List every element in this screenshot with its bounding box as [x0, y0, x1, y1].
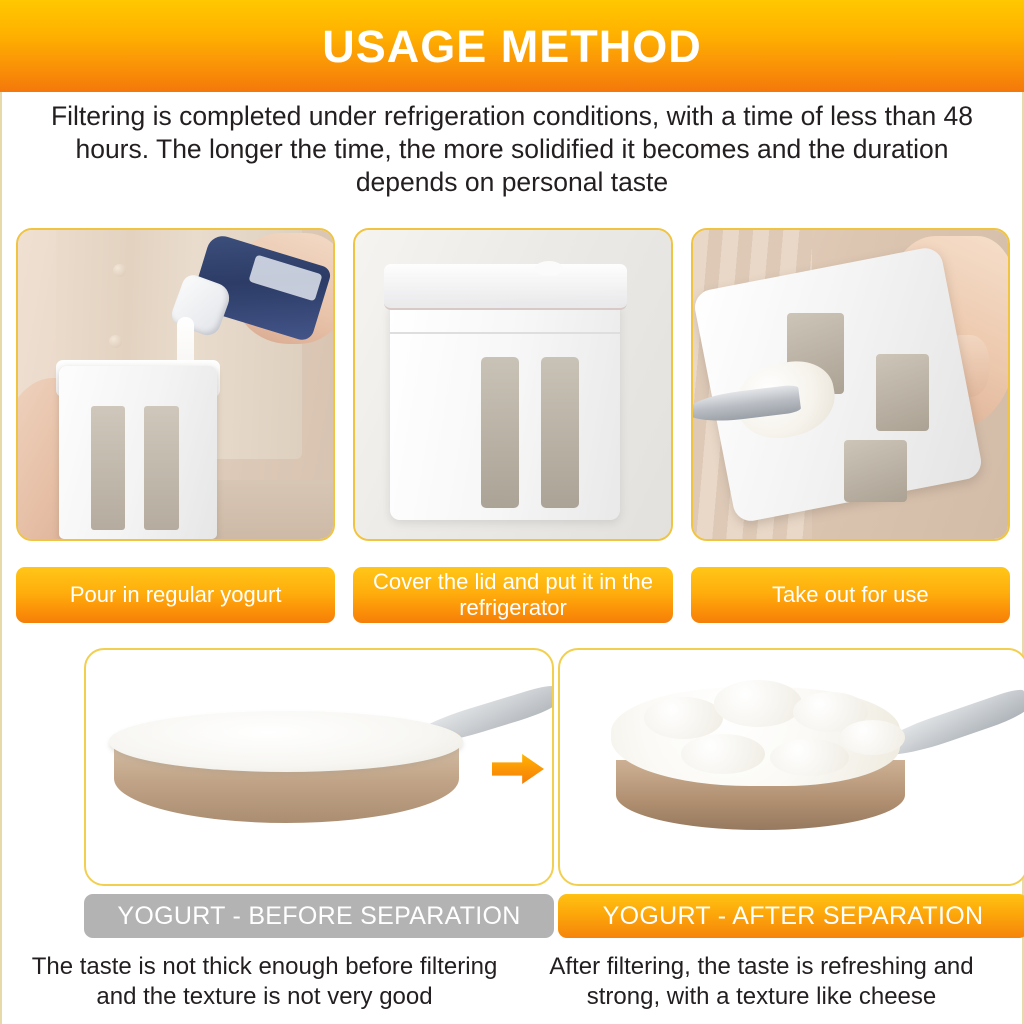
filter-container — [59, 366, 217, 539]
step-captions-row: Pour in regular yogurt Cover the lid and… — [16, 567, 1010, 623]
shirt-button — [113, 264, 126, 277]
curd-lump — [714, 680, 803, 727]
usage-method-infographic: USAGE METHOD Filtering is completed unde… — [0, 0, 1024, 1024]
curd-lump — [770, 739, 849, 776]
curd-lump — [681, 734, 765, 774]
right-arrow-icon — [486, 740, 558, 796]
after-label: YOGURT - AFTER SEPARATION — [558, 894, 1024, 938]
filter-mesh-panel — [541, 357, 579, 508]
before-description: The taste is not thick enough before fil… — [16, 952, 513, 1012]
step-caption-2: Cover the lid and put it in the refriger… — [353, 567, 672, 623]
curd-lump — [840, 720, 905, 755]
before-label: YOGURT - BEFORE SEPARATION — [84, 894, 554, 938]
curd-lump — [644, 697, 723, 739]
closed-container-fridge-photo — [353, 228, 672, 541]
intro-paragraph: Filtering is completed under refrigerati… — [2, 100, 1022, 199]
step-caption-3: Take out for use — [691, 567, 1010, 623]
container-seam — [390, 332, 620, 334]
step-photos-row — [16, 228, 1010, 541]
page-title: USAGE METHOD — [322, 24, 702, 69]
spoon-thick-yogurt-photo — [558, 648, 1024, 886]
filter-mesh-panel — [876, 354, 930, 431]
container-lid — [384, 264, 627, 310]
header-banner: USAGE METHOD — [0, 0, 1024, 92]
runny-yogurt — [109, 711, 463, 772]
filter-mesh-panel — [481, 357, 519, 508]
filter-mesh-panel — [144, 406, 179, 530]
arrow-glyph — [492, 754, 544, 784]
step-caption-1: Pour in regular yogurt — [16, 567, 335, 623]
comparison-row: YOGURT - BEFORE SEPARATION YOGURT - AFTE… — [16, 648, 1010, 948]
before-column: YOGURT - BEFORE SEPARATION — [84, 648, 554, 948]
filter-mesh-panel — [844, 440, 907, 502]
scooping-strained-yogurt-photo — [691, 228, 1010, 541]
comparison-descriptions-row: The taste is not thick enough before fil… — [16, 952, 1010, 1012]
spoon-runny-yogurt-photo — [84, 648, 554, 886]
after-description: After filtering, the taste is refreshing… — [513, 952, 1010, 1012]
pouring-yogurt-photo — [16, 228, 335, 541]
after-column: YOGURT - AFTER SEPARATION — [558, 648, 1024, 948]
filter-mesh-panel — [91, 406, 126, 530]
